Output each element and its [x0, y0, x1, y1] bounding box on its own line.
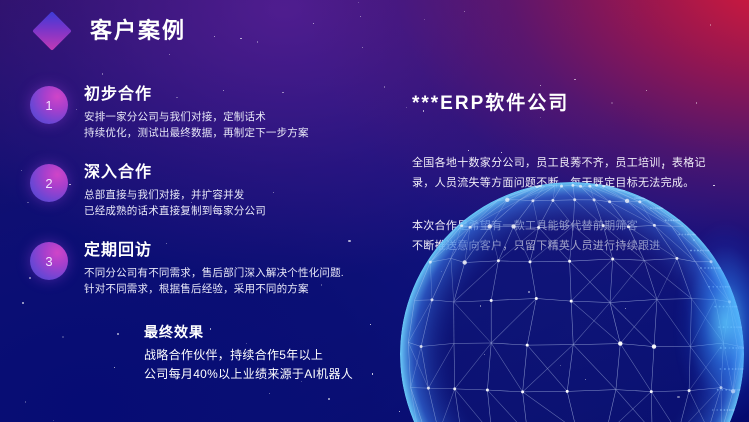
star-dot — [269, 393, 270, 394]
step-title: 定期回访 — [84, 241, 344, 261]
case-paragraph: 本次合作是希望有一款工具能够代替前期筛客 不断推送意向客户，只留下精英人员进行持… — [412, 216, 742, 257]
case-paragraph: 全国各地十数家分公司，员工良莠不齐，员工培训，表格记 录，人员流失等方面问题不断… — [412, 153, 742, 194]
star-dot — [540, 85, 541, 86]
case-paragraph-line: 全国各地十数家分公司，员工良莠不齐，员工培训，表格记 — [412, 153, 742, 173]
star-dot — [574, 79, 575, 80]
star-dot — [677, 396, 679, 398]
step-number: 2 — [45, 177, 52, 190]
list-item: 1 初步合作 安排一家分公司与我们对接，定制话术 持续优化，测试出最终数据，再制… — [0, 84, 400, 162]
case-paragraph-line: 不断推送意向客户，只留下精英人员进行持续跟进 — [412, 236, 742, 256]
step-body: 深入合作 总部直接与我们对接，并扩容并发 已经成熟的话术直接复制到每家分公司 — [84, 162, 266, 220]
star-dot — [117, 333, 119, 335]
page-title: 客户案例 — [90, 20, 186, 42]
step-line: 持续优化，测试出最终数据，再制定下一步方案 — [84, 125, 309, 141]
step-line: 总部直接与我们对接，并扩容并发 — [84, 187, 266, 203]
star-dot — [585, 379, 586, 380]
case-detail-panel: ***ERP软件公司 全国各地十数家分公司，员工良莠不齐，员工培训，表格记 录，… — [412, 88, 742, 278]
star-dot — [102, 73, 103, 74]
case-paragraph-line: 本次合作是希望有一款工具能够代替前期筛客 — [412, 216, 742, 236]
case-company-name: ***ERP软件公司 — [412, 88, 742, 115]
star-dot — [370, 324, 371, 325]
list-item: 3 定期回访 不同分公司有不同需求，售后部门深入解决个性化问题. 针对不同需求，… — [0, 240, 400, 318]
step-badge: 3 — [30, 242, 68, 280]
step-badge: 1 — [30, 86, 68, 124]
star-dot — [53, 420, 54, 421]
step-line: 已经成熟的话术直接复制到每家分公司 — [84, 203, 266, 219]
star-dot — [560, 365, 561, 366]
step-title: 深入合作 — [84, 163, 266, 183]
final-result-block: 最终效果 战略合作伙伴，持续合作5年以上 公司每月40%以上业绩来源于AI机器人 — [144, 322, 353, 384]
star-dot — [114, 367, 115, 368]
step-line: 针对不同需求，根据售后经验，采用不同的方案 — [84, 281, 344, 297]
star-dot — [62, 336, 64, 338]
list-item: 2 深入合作 总部直接与我们对接，并扩容并发 已经成熟的话术直接复制到每家分公司 — [0, 162, 400, 240]
star-dot — [406, 107, 407, 108]
step-badge: 2 — [30, 164, 68, 202]
star-dot — [528, 291, 530, 293]
slide-header: 客户案例 — [0, 0, 749, 62]
step-number: 3 — [45, 255, 52, 268]
case-paragraph-line: 录，人员流失等方面问题不断，每天既定目标无法完成。 — [412, 173, 742, 193]
step-body: 初步合作 安排一家分公司与我们对接，定制话术 持续优化，测试出最终数据，再制定下… — [84, 84, 309, 142]
step-line: 安排一家分公司与我们对接，定制话术 — [84, 109, 309, 125]
star-dot — [399, 411, 400, 412]
slide-canvas: 客户案例 1 初步合作 安排一家分公司与我们对接，定制话术 持续优化，测试出最终… — [0, 0, 749, 422]
star-dot — [484, 354, 485, 355]
step-body: 定期回访 不同分公司有不同需求，售后部门深入解决个性化问题. 针对不同需求，根据… — [84, 240, 344, 298]
step-number: 1 — [45, 99, 52, 112]
star-dot — [625, 308, 626, 309]
star-dot — [372, 373, 373, 374]
star-dot — [25, 401, 26, 402]
steps-list: 1 初步合作 安排一家分公司与我们对接，定制话术 持续优化，测试出最终数据，再制… — [0, 84, 400, 318]
final-result-line: 公司每月40%以上业绩来源于AI机器人 — [144, 365, 353, 384]
final-result-title: 最终效果 — [144, 322, 353, 342]
step-line: 不同分公司有不同需求，售后部门深入解决个性化问题. — [84, 265, 344, 281]
star-dot — [328, 398, 329, 399]
star-dot — [480, 305, 481, 306]
final-result-line: 战略合作伙伴，持续合作5年以上 — [144, 346, 353, 365]
diamond-icon — [32, 11, 72, 51]
step-title: 初步合作 — [84, 85, 309, 105]
